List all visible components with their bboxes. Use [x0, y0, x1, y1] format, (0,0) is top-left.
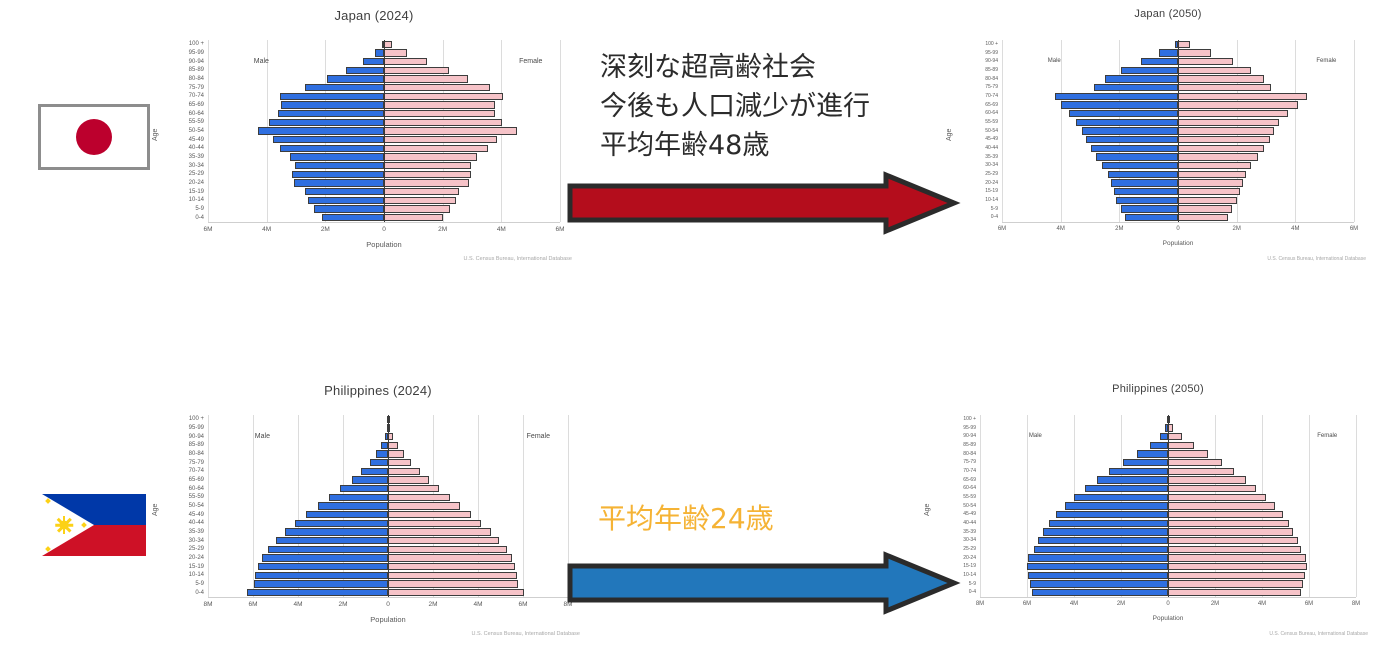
- bar-female-100: [384, 41, 392, 48]
- bar-male-35-39: [290, 153, 384, 160]
- bar-male-45-49: [306, 511, 388, 518]
- y-tick-label: 55-59: [963, 495, 976, 500]
- bar-female-75-79: [1168, 459, 1222, 466]
- y-tick-label: 35-39: [189, 154, 204, 160]
- y-tick-label: 80-84: [189, 76, 204, 82]
- bar-female-55-59: [1168, 494, 1266, 501]
- y-tick-label: 0-4: [195, 590, 204, 596]
- x-tick-label: 0: [382, 226, 386, 233]
- x-axis-tick-labels: 6M4M2M02M4M6M: [208, 226, 560, 238]
- bar-male-65-69: [1061, 101, 1178, 108]
- center-axis-line: [388, 415, 389, 597]
- philippines-flag-sun-icon: [55, 516, 73, 534]
- x-axis-title: Population: [1002, 240, 1354, 247]
- y-tick-label: 0-4: [969, 590, 976, 595]
- bar-male-90-94: [1160, 433, 1168, 440]
- bar-female-30-34: [1168, 537, 1298, 544]
- x-tick-label: 2M: [1115, 226, 1123, 232]
- population-pyramid-japan-2024: Japan (2024)MaleFemale100 +95-9990-9485-…: [168, 8, 580, 280]
- bar-male-35-39: [285, 528, 388, 535]
- plot-area: MaleFemale: [980, 415, 1356, 598]
- bar-male-95-99: [1159, 49, 1178, 56]
- bar-female-50-54: [1178, 127, 1274, 134]
- female-label: Female: [1316, 58, 1336, 64]
- y-tick-label: 40-44: [963, 521, 976, 526]
- y-tick-label: 15-19: [189, 564, 204, 570]
- y-tick-label: 45-49: [189, 512, 204, 518]
- x-tick-label: 6M: [1305, 601, 1313, 607]
- x-tick-label: 0: [1166, 601, 1169, 607]
- y-tick-label: 65-69: [963, 478, 976, 483]
- gridline: [1002, 40, 1003, 222]
- bar-female-80-84: [1178, 75, 1264, 82]
- bar-female-25-29: [384, 171, 471, 178]
- bar-male-90-94: [1141, 58, 1178, 65]
- x-tick-label: 8M: [203, 601, 212, 608]
- japan-annotation-text: 深刻な超高齢社会 今後も人口減少が進行 平均年齢48歳: [600, 48, 870, 165]
- bar-female-60-64: [1168, 485, 1256, 492]
- bar-female-40-44: [384, 145, 488, 152]
- center-axis-line: [1178, 40, 1179, 222]
- population-pyramid-japan-2050: Japan (2050)MaleFemale100 +95-9990-9485-…: [962, 8, 1374, 280]
- chart-source-note: U.S. Census Bureau, International Databa…: [471, 631, 580, 637]
- bar-female-60-64: [388, 485, 439, 492]
- bar-female-85-89: [1178, 67, 1251, 74]
- y-tick-label: 85-89: [963, 443, 976, 448]
- bar-male-75-79: [370, 459, 388, 466]
- bar-female-15-19: [384, 188, 459, 195]
- x-tick-label: 4M: [1070, 601, 1078, 607]
- y-tick-label: 10-14: [189, 572, 204, 578]
- y-tick-label: 35-39: [189, 529, 204, 535]
- y-tick-label: 100 +: [189, 416, 204, 422]
- bar-female-10-14: [1168, 572, 1305, 579]
- bar-female-75-79: [1178, 84, 1271, 91]
- bar-female-35-39: [388, 528, 491, 535]
- bar-female-80-84: [384, 75, 468, 82]
- y-tick-label: 75-79: [189, 85, 204, 91]
- y-tick-label: 50-54: [189, 128, 204, 134]
- bar-male-15-19: [1027, 563, 1168, 570]
- bar-male-5-9: [1121, 205, 1178, 212]
- bar-female-60-64: [384, 110, 495, 117]
- y-tick-label: 90-94: [189, 59, 204, 65]
- bar-male-55-59: [1074, 494, 1168, 501]
- bar-male-5-9: [254, 580, 388, 587]
- x-tick-label: 6M: [998, 226, 1006, 232]
- bar-female-5-9: [384, 205, 450, 212]
- y-tick-label: 75-79: [189, 460, 204, 466]
- bar-male-30-34: [276, 537, 389, 544]
- y-tick-label: 80-84: [985, 77, 998, 82]
- gridline: [523, 415, 524, 597]
- y-tick-label: 85-89: [189, 67, 204, 73]
- y-tick-label: 25-29: [985, 172, 998, 177]
- y-tick-label: 70-74: [985, 94, 998, 99]
- y-tick-label: 15-19: [985, 189, 998, 194]
- y-tick-label: 65-69: [189, 477, 204, 483]
- bar-male-0-4: [1125, 214, 1178, 221]
- bar-male-45-49: [1056, 511, 1168, 518]
- plot-area: MaleFemale: [208, 415, 568, 598]
- x-tick-label: 4M: [1258, 601, 1266, 607]
- bar-male-25-29: [292, 171, 384, 178]
- bar-female-10-14: [388, 572, 517, 579]
- bar-male-40-44: [280, 145, 384, 152]
- y-tick-label: 90-94: [963, 434, 976, 439]
- y-tick-label: 90-94: [189, 434, 204, 440]
- gridline: [1061, 40, 1062, 222]
- y-tick-label: 10-14: [189, 197, 204, 203]
- bar-female-65-69: [1178, 101, 1298, 108]
- bar-male-15-19: [1114, 188, 1178, 195]
- gridline: [980, 415, 981, 597]
- bar-male-30-34: [1038, 537, 1168, 544]
- y-tick-label: 80-84: [963, 452, 976, 457]
- bar-male-20-24: [1111, 179, 1178, 186]
- y-tick-label: 20-24: [189, 180, 204, 186]
- bar-male-40-44: [295, 520, 388, 527]
- bar-male-70-74: [280, 93, 384, 100]
- bar-male-10-14: [1028, 572, 1168, 579]
- y-tick-label: 45-49: [963, 512, 976, 517]
- gridline: [1309, 415, 1310, 597]
- bar-female-5-9: [388, 580, 518, 587]
- philippines-flag: [42, 494, 146, 556]
- gridline: [1354, 40, 1355, 222]
- bar-male-15-19: [258, 563, 389, 570]
- y-tick-label: 75-79: [963, 460, 976, 465]
- gridline: [1356, 415, 1357, 597]
- bar-female-20-24: [1168, 554, 1306, 561]
- bar-male-0-4: [322, 214, 384, 221]
- y-tick-label: 25-29: [189, 171, 204, 177]
- bar-male-15-19: [305, 188, 384, 195]
- bar-male-5-9: [314, 205, 384, 212]
- bar-male-40-44: [1091, 145, 1178, 152]
- bar-male-55-59: [269, 119, 384, 126]
- y-tick-label: 100 +: [985, 42, 998, 47]
- bar-male-30-34: [295, 162, 384, 169]
- x-tick-label: 4M: [1291, 226, 1299, 232]
- y-tick-label: 55-59: [985, 120, 998, 125]
- y-tick-label: 35-39: [985, 155, 998, 160]
- x-tick-label: 2M: [1117, 601, 1125, 607]
- bar-female-45-49: [388, 511, 471, 518]
- y-tick-label: 40-44: [189, 520, 204, 526]
- y-tick-label: 20-24: [189, 555, 204, 561]
- bar-male-85-89: [381, 442, 388, 449]
- bar-female-20-24: [384, 179, 469, 186]
- y-axis-title: Age: [152, 129, 159, 141]
- bar-female-70-74: [1178, 93, 1307, 100]
- bar-female-25-29: [1168, 546, 1301, 553]
- bar-male-80-84: [327, 75, 384, 82]
- x-axis-title: Population: [208, 240, 560, 249]
- y-tick-label: 55-59: [189, 494, 204, 500]
- y-tick-label: 80-84: [189, 451, 204, 457]
- female-label: Female: [527, 433, 550, 440]
- x-tick-label: 2M: [1211, 601, 1219, 607]
- blue-right-arrow: [566, 552, 958, 614]
- bar-female-45-49: [384, 136, 497, 143]
- y-tick-label: 5-9: [991, 207, 998, 212]
- y-tick-label: 95-99: [963, 426, 976, 431]
- gridline: [253, 415, 254, 597]
- bar-female-45-49: [1178, 136, 1270, 143]
- x-tick-label: 2M: [1232, 226, 1240, 232]
- bar-male-85-89: [346, 67, 384, 74]
- japan-flag-disc: [76, 119, 112, 155]
- bar-female-35-39: [1178, 153, 1258, 160]
- population-pyramid-philippines-2024: Philippines (2024)MaleFemale100 +95-9990…: [168, 383, 588, 655]
- bar-female-50-54: [384, 127, 517, 134]
- x-tick-label: 2M: [438, 226, 447, 233]
- bar-male-45-49: [1086, 136, 1178, 143]
- bar-female-50-54: [1168, 502, 1275, 509]
- y-tick-label: 55-59: [189, 119, 204, 125]
- bar-female-0-4: [1178, 214, 1228, 221]
- y-tick-label: 95-99: [189, 50, 204, 56]
- y-tick-label: 40-44: [985, 146, 998, 151]
- bar-male-90-94: [363, 58, 384, 65]
- y-tick-label: 60-64: [189, 111, 204, 117]
- bar-male-60-64: [1069, 110, 1178, 117]
- bar-male-65-69: [1097, 476, 1168, 483]
- y-tick-label: 100 +: [963, 417, 976, 422]
- bar-female-55-59: [1178, 119, 1279, 126]
- chart-title: Philippines (2024): [168, 383, 588, 398]
- y-tick-label: 5-9: [195, 581, 204, 587]
- x-tick-label: 0: [386, 601, 390, 608]
- bar-male-50-54: [1082, 127, 1178, 134]
- chart-source-note: U.S. Census Bureau, International Databa…: [463, 256, 572, 262]
- y-tick-label: 75-79: [985, 85, 998, 90]
- bar-female-35-39: [1168, 528, 1293, 535]
- y-tick-label: 20-24: [985, 181, 998, 186]
- bar-male-80-84: [1137, 450, 1168, 457]
- bar-male-0-4: [1032, 589, 1168, 596]
- y-tick-label: 65-69: [189, 102, 204, 108]
- y-tick-label: 60-64: [985, 111, 998, 116]
- chart-source-note: U.S. Census Bureau, International Databa…: [1267, 256, 1366, 262]
- y-tick-label: 45-49: [985, 137, 998, 142]
- bar-male-20-24: [1028, 554, 1168, 561]
- y-tick-label: 25-29: [963, 547, 976, 552]
- bar-male-0-4: [247, 589, 388, 596]
- bar-female-95-99: [1178, 49, 1211, 56]
- bar-female-15-19: [388, 563, 515, 570]
- bar-female-25-29: [388, 546, 507, 553]
- bar-female-5-9: [1168, 580, 1303, 587]
- bar-female-55-59: [384, 119, 502, 126]
- bar-female-40-44: [1168, 520, 1289, 527]
- x-tick-label: 8M: [976, 601, 984, 607]
- bar-male-45-49: [273, 136, 384, 143]
- bar-female-50-54: [388, 502, 460, 509]
- y-axis-tick-labels: 100 +95-9990-9485-8980-8475-7970-7465-69…: [956, 40, 998, 222]
- male-label: Male: [254, 58, 269, 65]
- x-tick-label: 8M: [1352, 601, 1360, 607]
- bar-female-30-34: [388, 537, 499, 544]
- y-tick-label: 5-9: [195, 206, 204, 212]
- chart-title: Japan (2050): [962, 8, 1374, 20]
- bar-female-70-74: [388, 468, 420, 475]
- y-tick-label: 35-39: [963, 530, 976, 535]
- bar-female-10-14: [384, 197, 456, 204]
- x-axis-title: Population: [980, 615, 1356, 622]
- y-tick-label: 65-69: [985, 103, 998, 108]
- bar-male-50-54: [318, 502, 388, 509]
- bar-female-80-84: [1168, 450, 1208, 457]
- bar-male-60-64: [340, 485, 388, 492]
- bar-male-25-29: [268, 546, 388, 553]
- bar-male-35-39: [1096, 153, 1178, 160]
- bar-female-45-49: [1168, 511, 1283, 518]
- y-tick-label: 25-29: [189, 546, 204, 552]
- y-tick-label: 0-4: [991, 215, 998, 220]
- bar-male-10-14: [255, 572, 388, 579]
- x-axis-tick-labels: 6M4M2M02M4M6M: [1002, 226, 1354, 238]
- bar-female-15-19: [1178, 188, 1240, 195]
- x-tick-label: 2M: [428, 601, 437, 608]
- gridline: [208, 40, 209, 222]
- bar-female-90-94: [1178, 58, 1233, 65]
- bar-female-0-4: [384, 214, 443, 221]
- x-axis-tick-labels: 8M6M4M2M02M4M6M8M: [208, 601, 568, 613]
- bar-male-75-79: [1094, 84, 1178, 91]
- y-tick-label: 60-64: [963, 486, 976, 491]
- y-tick-label: 50-54: [985, 129, 998, 134]
- bar-female-75-79: [388, 459, 411, 466]
- center-axis-line: [384, 40, 385, 222]
- x-tick-label: 6M: [248, 601, 257, 608]
- y-tick-label: 15-19: [189, 189, 204, 195]
- bar-male-95-99: [375, 49, 384, 56]
- x-tick-label: 2M: [338, 601, 347, 608]
- bar-male-25-29: [1108, 171, 1178, 178]
- bar-male-70-74: [1055, 93, 1178, 100]
- bar-female-40-44: [388, 520, 481, 527]
- y-tick-label: 70-74: [189, 468, 204, 474]
- philippines-annotation-text: 平均年齢24歳: [598, 502, 774, 536]
- y-tick-label: 95-99: [189, 425, 204, 431]
- x-tick-label: 4M: [293, 601, 302, 608]
- bar-female-90-94: [1168, 433, 1182, 440]
- center-axis-line: [1168, 415, 1169, 597]
- bar-male-30-34: [1102, 162, 1178, 169]
- y-tick-label: 30-34: [963, 538, 976, 543]
- gridline: [208, 415, 209, 597]
- bar-female-25-29: [1178, 171, 1246, 178]
- bar-male-75-79: [1123, 459, 1168, 466]
- y-tick-label: 50-54: [963, 504, 976, 509]
- bar-male-75-79: [305, 84, 384, 91]
- x-tick-label: 4M: [497, 226, 506, 233]
- bar-female-95-99: [384, 49, 407, 56]
- bar-female-35-39: [384, 153, 477, 160]
- y-tick-label: 30-34: [189, 163, 204, 169]
- x-axis-title: Population: [208, 615, 568, 624]
- y-tick-label: 10-14: [963, 573, 976, 578]
- y-tick-label: 5-9: [969, 582, 976, 587]
- bar-female-10-14: [1178, 197, 1237, 204]
- bar-female-65-69: [1168, 476, 1246, 483]
- gridline: [1295, 40, 1296, 222]
- bar-male-65-69: [281, 101, 384, 108]
- plot-area: MaleFemale: [208, 40, 560, 223]
- y-tick-label: 15-19: [963, 564, 976, 569]
- chart-source-note: U.S. Census Bureau, International Databa…: [1269, 631, 1368, 637]
- bar-female-75-79: [384, 84, 490, 91]
- bar-male-35-39: [1043, 528, 1168, 535]
- bar-female-90-94: [384, 58, 427, 65]
- bar-male-20-24: [294, 179, 384, 186]
- red-right-arrow: [566, 172, 958, 234]
- y-tick-label: 70-74: [963, 469, 976, 474]
- bar-female-5-9: [1178, 205, 1232, 212]
- x-tick-label: 4M: [262, 226, 271, 233]
- y-tick-label: 95-99: [985, 51, 998, 56]
- bar-male-80-84: [376, 450, 388, 457]
- x-tick-label: 0: [1176, 226, 1179, 232]
- female-label: Female: [519, 58, 542, 65]
- y-tick-label: 50-54: [189, 503, 204, 509]
- bar-male-70-74: [361, 468, 388, 475]
- y-axis-title: Age: [152, 504, 159, 516]
- bar-female-0-4: [1168, 589, 1301, 596]
- y-tick-label: 10-14: [985, 198, 998, 203]
- bar-female-40-44: [1178, 145, 1264, 152]
- y-axis-tick-labels: 100 +95-9990-9485-8980-8475-7970-7465-69…: [162, 415, 204, 597]
- chart-title: Japan (2024): [168, 8, 580, 23]
- bar-female-85-89: [1168, 442, 1194, 449]
- male-label: Male: [1029, 433, 1042, 439]
- female-label: Female: [1317, 433, 1337, 439]
- y-tick-label: 85-89: [189, 442, 204, 448]
- y-tick-label: 30-34: [985, 163, 998, 168]
- bar-female-20-24: [1178, 179, 1243, 186]
- bar-male-5-9: [1030, 580, 1168, 587]
- bar-female-30-34: [1178, 162, 1251, 169]
- bar-male-50-54: [1065, 502, 1168, 509]
- x-tick-label: 6M: [518, 601, 527, 608]
- x-tick-label: 6M: [1023, 601, 1031, 607]
- y-tick-label: 45-49: [189, 137, 204, 143]
- y-tick-label: 30-34: [189, 538, 204, 544]
- bar-male-50-54: [258, 127, 384, 134]
- male-label: Male: [1048, 58, 1061, 64]
- bar-male-20-24: [262, 554, 388, 561]
- y-tick-label: 60-64: [189, 486, 204, 492]
- x-tick-label: 2M: [321, 226, 330, 233]
- x-tick-label: 6M: [1350, 226, 1358, 232]
- x-tick-label: 4M: [1056, 226, 1064, 232]
- y-tick-label: 0-4: [195, 215, 204, 221]
- bar-female-80-84: [388, 450, 404, 457]
- bar-female-70-74: [384, 93, 503, 100]
- bar-female-85-89: [384, 67, 449, 74]
- bar-female-0-4: [388, 589, 524, 596]
- bar-female-70-74: [1168, 468, 1234, 475]
- x-tick-label: 6M: [203, 226, 212, 233]
- bar-male-40-44: [1049, 520, 1168, 527]
- bar-female-60-64: [1178, 110, 1288, 117]
- bar-female-100: [1178, 41, 1190, 48]
- y-tick-label: 40-44: [189, 145, 204, 151]
- bar-male-70-74: [1109, 468, 1168, 475]
- bar-female-20-24: [388, 554, 512, 561]
